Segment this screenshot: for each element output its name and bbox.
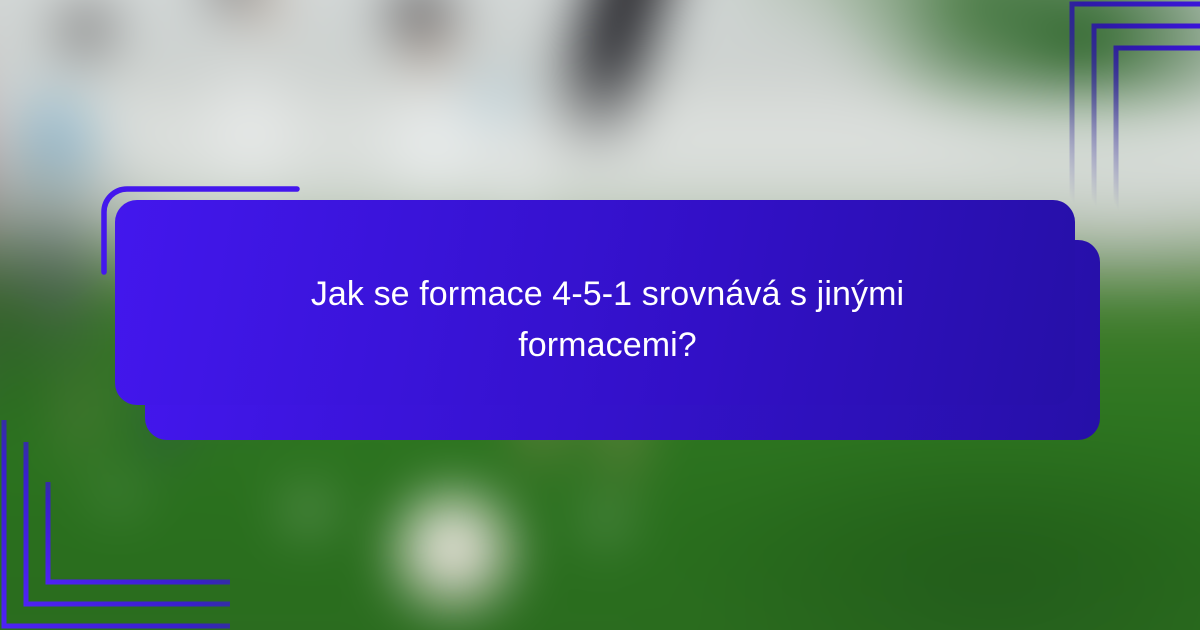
card-title: Jak se formace 4-5-1 srovnává s jinými f… bbox=[235, 269, 980, 371]
corner-bracket-top-right-icon bbox=[1000, 0, 1200, 230]
corner-bracket-bottom-left-icon bbox=[0, 420, 230, 630]
card-text-container: Jak se formace 4-5-1 srovnává s jinými f… bbox=[115, 200, 1100, 440]
share-card-canvas: Jak se formace 4-5-1 srovnává s jinými f… bbox=[0, 0, 1200, 630]
